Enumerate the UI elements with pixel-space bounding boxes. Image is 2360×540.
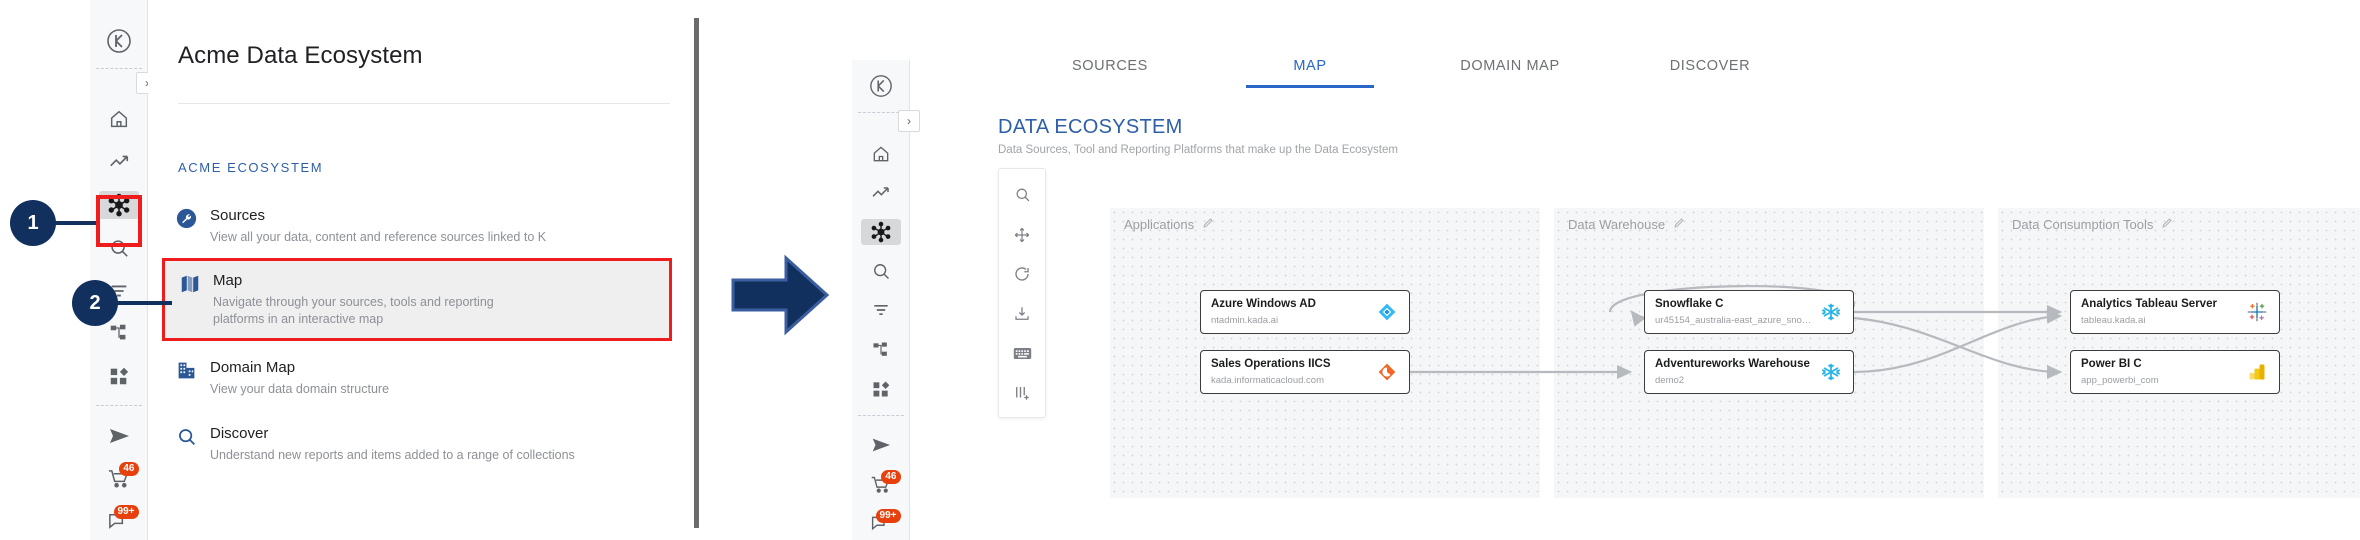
powerbi-icon <box>2245 362 2269 382</box>
node-text: Sales Operations IICS kada.informaticacl… <box>1211 357 1331 388</box>
tab-map[interactable]: MAP <box>1210 58 1410 88</box>
edit-pencil-icon[interactable] <box>2161 217 2173 232</box>
sidebar-item-cart[interactable]: 46 <box>861 472 901 497</box>
node-subtitle: ur45154_australia-east_azure_snowflake… <box>1655 314 1815 328</box>
node-subtitle: demo2 <box>1655 374 1810 388</box>
node-text: Adventureworks Warehouse demo2 <box>1655 357 1810 388</box>
menu-item-text: Sources View all your data, content and … <box>210 206 658 246</box>
swimlane-label: Data Warehouse <box>1568 217 1665 232</box>
menu-item-title: Map <box>213 271 655 291</box>
screenshot-root: › <box>0 0 2360 540</box>
node-text: Azure Windows AD ntadmin.kada.ai <box>1211 297 1316 328</box>
map-node-power-bi-c[interactable]: Power BI C app_powerbi_com <box>2070 350 2280 394</box>
app-logo-icon[interactable] <box>864 74 898 98</box>
menu-item-sources[interactable]: Sources View all your data, content and … <box>162 196 672 256</box>
flow-arrow-icon <box>730 252 830 343</box>
right-nav-rail: › <box>852 60 910 540</box>
menu-item-title: Sources <box>210 206 658 226</box>
rail-divider-2 <box>858 415 904 416</box>
menu-item-desc: Understand new reports and items added t… <box>210 447 658 464</box>
sidebar-item-dashboard[interactable] <box>99 362 139 391</box>
snowflake-icon <box>1819 302 1843 322</box>
map-toolbar <box>998 168 1046 418</box>
sidebar-item-trending[interactable] <box>99 148 139 177</box>
node-title: Snowflake C <box>1655 297 1815 312</box>
rail-divider <box>96 68 142 69</box>
callout-1-line <box>52 221 96 225</box>
highlight-box-rail <box>96 195 142 247</box>
callout-badge-1: 1 <box>10 200 56 246</box>
tableau-icon <box>2245 302 2269 322</box>
refresh-icon[interactable] <box>1005 258 1039 290</box>
menu-item-map[interactable]: Map Navigate through your sources, tools… <box>162 258 672 341</box>
sidebar-item-trending[interactable] <box>861 180 901 205</box>
node-subtitle: app_powerbi_com <box>2081 374 2159 388</box>
callout-badge-2: 2 <box>72 280 118 326</box>
swimlane-title: Data Consumption Tools <box>2012 217 2173 232</box>
map-icon <box>179 271 213 328</box>
menu-item-domain-map[interactable]: Domain Map View your data domain structu… <box>162 348 672 408</box>
keyboard-icon[interactable] <box>1005 338 1039 370</box>
edit-pencil-icon[interactable] <box>1673 217 1685 232</box>
right-panel-body: SOURCES MAP DOMAIN MAP DISCOVER DATA ECO… <box>910 0 2360 540</box>
tab-bar: SOURCES MAP DOMAIN MAP DISCOVER <box>1010 58 1810 88</box>
node-title: Analytics Tableau Server <box>2081 297 2217 312</box>
node-title: Adventureworks Warehouse <box>1655 357 1810 372</box>
swimlane-label: Data Consumption Tools <box>2012 217 2153 232</box>
title-divider <box>178 103 670 104</box>
sidebar-item-comments[interactable]: 99+ <box>861 511 901 536</box>
menu-item-text: Map Navigate through your sources, tools… <box>213 271 655 328</box>
comments-badge: 99+ <box>114 505 139 519</box>
rail-divider-2 <box>96 405 142 406</box>
page-title: Acme Data Ecosystem <box>178 42 423 70</box>
node-title: Azure Windows AD <box>1211 297 1316 312</box>
menu-item-desc: View your data domain structure <box>210 381 658 398</box>
informatica-icon <box>1375 362 1399 382</box>
node-subtitle: tableau.kada.ai <box>2081 314 2217 328</box>
sidebar-item-comments[interactable]: 99+ <box>99 507 139 536</box>
comments-badge: 99+ <box>876 509 901 523</box>
map-node-azure-windows-ad[interactable]: Azure Windows AD ntadmin.kada.ai <box>1200 290 1410 334</box>
node-text: Snowflake C ur45154_australia-east_azure… <box>1655 297 1815 328</box>
section-subheading: Data Sources, Tool and Reporting Platfor… <box>998 144 1398 156</box>
menu-item-text: Domain Map View your data domain structu… <box>210 358 658 398</box>
search-icon[interactable] <box>1005 179 1039 211</box>
sidebar-item-home[interactable] <box>861 141 901 166</box>
sidebar-item-ecosystem[interactable] <box>861 219 901 244</box>
menu-item-title: Discover <box>210 424 658 444</box>
sidebar-item-dashboard[interactable] <box>861 376 901 401</box>
right-panel: › <box>852 0 2360 540</box>
edit-pencil-icon[interactable] <box>1202 217 1214 232</box>
tab-discover[interactable]: DISCOVER <box>1610 58 1810 88</box>
section-heading: DATA ECOSYSTEM <box>998 116 1183 139</box>
domain-icon <box>176 358 210 398</box>
callout-2-line <box>112 301 172 305</box>
menu-item-text: Discover Understand new reports and item… <box>210 424 658 464</box>
columns-add-icon[interactable] <box>1005 377 1039 409</box>
map-node-analytics-tableau-server[interactable]: Analytics Tableau Server tableau.kada.ai <box>2070 290 2280 334</box>
node-title: Power BI C <box>2081 357 2159 372</box>
wrench-icon <box>176 206 210 246</box>
left-panel: › <box>0 0 700 540</box>
search-icon <box>176 424 210 464</box>
node-text: Power BI C app_powerbi_com <box>2081 357 2159 388</box>
app-logo-icon[interactable] <box>102 28 136 54</box>
node-title: Sales Operations IICS <box>1211 357 1331 372</box>
sidebar-item-filter[interactable] <box>861 298 901 323</box>
swimlane-label: Applications <box>1124 217 1194 232</box>
menu-item-title: Domain Map <box>210 358 658 378</box>
node-subtitle: kada.informaticacloud.com <box>1211 374 1331 388</box>
sidebar-item-search[interactable] <box>861 259 901 284</box>
ecosystem-map-canvas[interactable]: Applications Data Warehouse <box>1110 208 2360 498</box>
cart-badge: 46 <box>881 470 900 484</box>
rail-divider <box>858 112 904 113</box>
menu-item-desc: View all your data, content and referenc… <box>210 229 658 246</box>
section-label: ACME ECOSYSTEM <box>178 160 323 175</box>
cart-badge: 46 <box>119 462 138 476</box>
map-node-snowflake-c[interactable]: Snowflake C ur45154_australia-east_azure… <box>1644 290 1854 334</box>
map-node-adventureworks-warehouse[interactable]: Adventureworks Warehouse demo2 <box>1644 350 1854 394</box>
tab-domain-map[interactable]: DOMAIN MAP <box>1410 58 1610 88</box>
menu-item-discover[interactable]: Discover Understand new reports and item… <box>162 414 672 474</box>
sidebar-item-send[interactable] <box>861 432 901 457</box>
download-icon[interactable] <box>1005 298 1039 330</box>
sidebar-item-home[interactable] <box>99 105 139 134</box>
left-panel-content: Acme Data Ecosystem ACME ECOSYSTEM Sourc… <box>148 0 700 540</box>
swimlane-title: Data Warehouse <box>1568 217 1685 232</box>
swimlane-title: Applications <box>1124 217 1214 232</box>
map-node-sales-operations-iics[interactable]: Sales Operations IICS kada.informaticacl… <box>1200 350 1410 394</box>
tab-sources[interactable]: SOURCES <box>1010 58 1210 88</box>
sidebar-item-send[interactable] <box>99 422 139 451</box>
sidebar-item-sitemap[interactable] <box>861 337 901 362</box>
node-subtitle: ntadmin.kada.ai <box>1211 314 1316 328</box>
left-nav-rail: › <box>90 0 148 540</box>
fit-to-screen-icon[interactable] <box>1005 219 1039 251</box>
azure-ad-icon <box>1375 302 1399 322</box>
menu-item-desc: Navigate through your sources, tools and… <box>213 294 543 328</box>
node-text: Analytics Tableau Server tableau.kada.ai <box>2081 297 2217 328</box>
snowflake-icon <box>1819 362 1843 382</box>
sidebar-item-cart[interactable]: 46 <box>99 464 139 493</box>
panel-edge-divider <box>694 18 699 528</box>
